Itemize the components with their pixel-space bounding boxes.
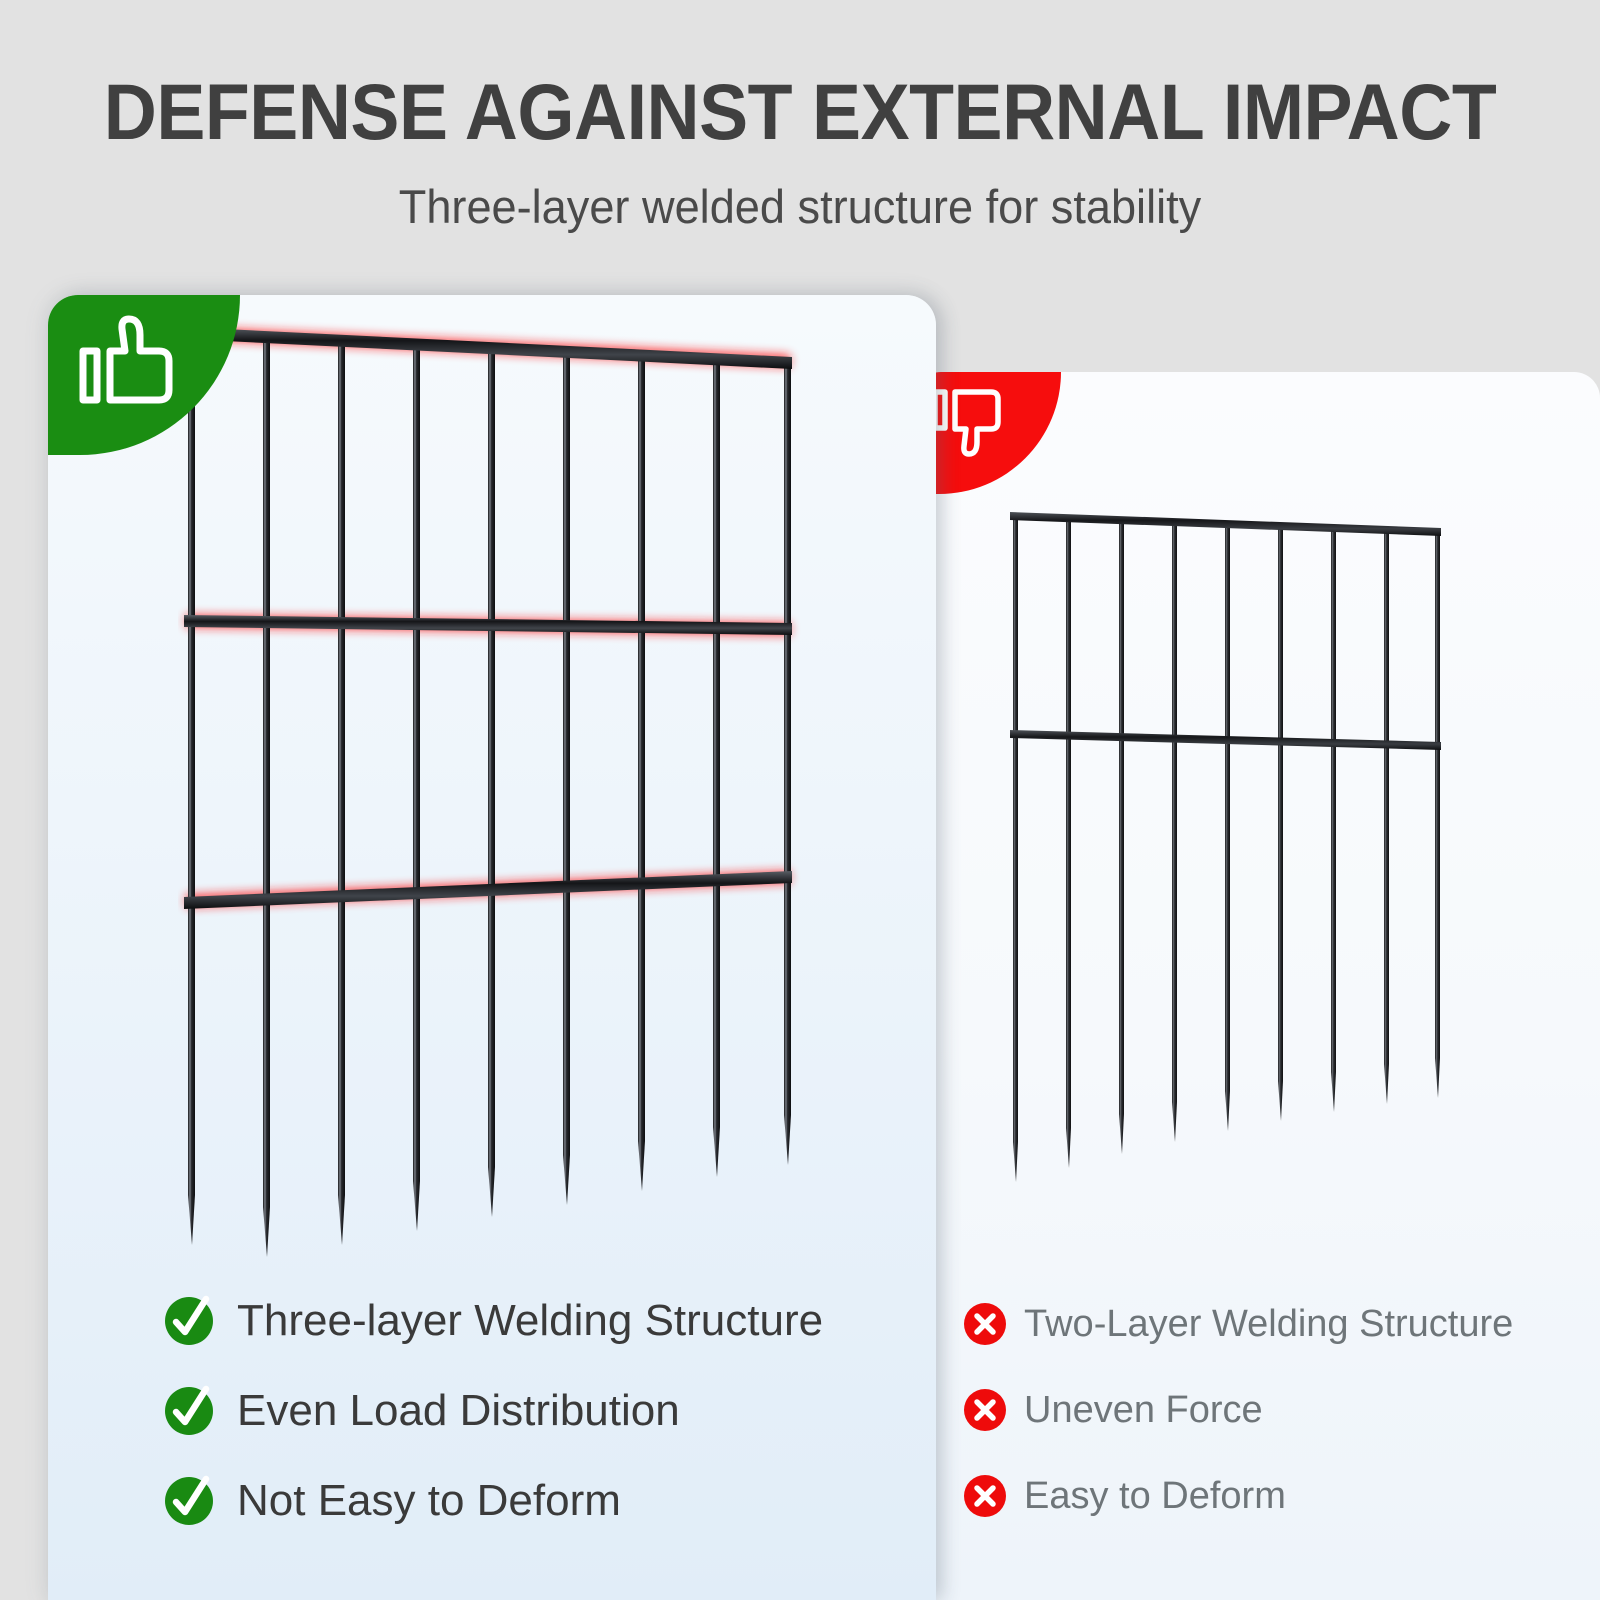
list-item: Even Load Distribution	[163, 1385, 923, 1437]
fence-vertical-bars	[188, 329, 791, 1257]
check-circle-icon	[163, 1295, 215, 1347]
page-subtitle: Three-layer welded structure for stabili…	[32, 151, 1568, 230]
list-item: Three-layer Welding Structure	[163, 1295, 923, 1347]
x-circle-icon	[963, 1302, 1007, 1346]
list-item-label: Two-Layer Welding Structure	[1024, 1305, 1513, 1343]
x-circle-icon	[963, 1388, 1007, 1432]
comparison-card-bad: Two-Layer Welding Structure Uneven Force…	[915, 372, 1600, 1600]
list-item: Easy to Deform	[963, 1474, 1583, 1518]
list-item: Not Easy to Deform	[163, 1475, 923, 1527]
list-item-label: Not Easy to Deform	[237, 1479, 621, 1523]
thumbs-up-icon	[76, 315, 192, 425]
x-circle-icon	[963, 1474, 1007, 1518]
feature-list-bad: Two-Layer Welding Structure Uneven Force…	[963, 1302, 1583, 1560]
feature-list-good: Three-layer Welding Structure Even Load …	[163, 1295, 923, 1565]
list-item-label: Three-layer Welding Structure	[237, 1299, 823, 1343]
fence-vertical-bars	[1013, 514, 1440, 1182]
header: DEFENSE AGAINST EXTERNAL IMPACT Three-la…	[0, 0, 1600, 270]
list-item-label: Even Load Distribution	[237, 1389, 680, 1433]
list-item-label: Uneven Force	[1024, 1391, 1263, 1429]
three-layer-welded-fence	[178, 315, 818, 1305]
comparison-card-good: Three-layer Welding Structure Even Load …	[48, 295, 936, 1600]
page-title: DEFENSE AGAINST EXTERNAL IMPACT	[56, 0, 1544, 151]
thumbs-down-badge	[915, 372, 1061, 494]
thumbs-down-icon	[929, 382, 1015, 464]
check-circle-icon	[163, 1475, 215, 1527]
list-item-label: Easy to Deform	[1024, 1477, 1286, 1515]
list-item: Uneven Force	[963, 1388, 1583, 1432]
two-layer-welded-fence	[1005, 502, 1465, 1242]
check-circle-icon	[163, 1385, 215, 1437]
list-item: Two-Layer Welding Structure	[963, 1302, 1583, 1346]
